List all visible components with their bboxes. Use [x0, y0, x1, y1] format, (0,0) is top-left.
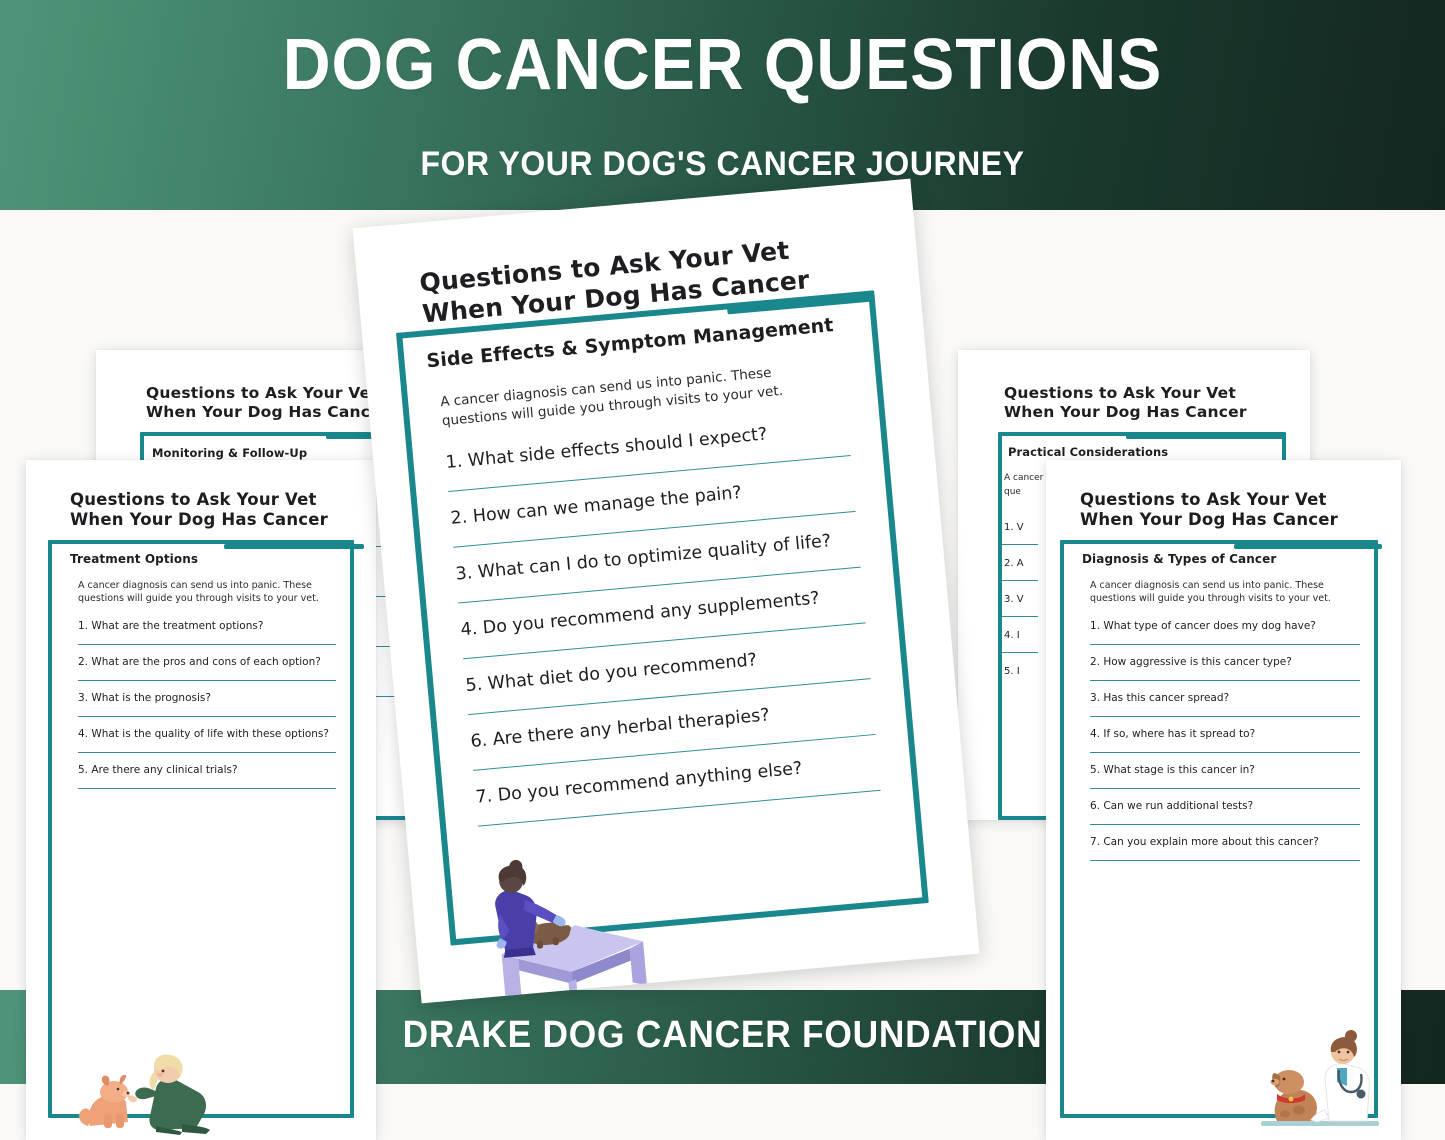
- question-item: 2. How aggressive is this cancer type?: [1090, 656, 1292, 668]
- question-item: 5. What stage is this cancer in?: [1090, 764, 1255, 776]
- answer-line: [78, 644, 336, 645]
- person-with-dog-on-exam-table-illustration: [465, 844, 668, 1003]
- worksheet-title: Questions to Ask Your Vet When Your Dog …: [70, 490, 360, 530]
- answer-line: [1090, 716, 1360, 717]
- answer-line: [1002, 652, 1038, 653]
- answer-line: [1090, 824, 1360, 825]
- answer-line: [1090, 860, 1360, 861]
- question-item: 4. I: [1004, 630, 1020, 641]
- document-mockup-stage: Questions to Ask Your Vet When Your Dog …: [0, 210, 1445, 990]
- worksheet-intro: A cancer diagnosis can send us into pani…: [1090, 579, 1352, 606]
- answer-line: [1002, 616, 1038, 617]
- page-title: DOG CANCER QUESTIONS: [58, 24, 1387, 106]
- vet-with-stethoscope-and-spotted-dog-illustration: [1255, 1024, 1385, 1132]
- question-item: 2. A: [1004, 558, 1024, 569]
- header-banner: DOG CANCER QUESTIONS FOR YOUR DOG'S CANC…: [0, 0, 1445, 210]
- worksheet-treatment-options[interactable]: Questions to Ask Your Vet When Your Dog …: [26, 460, 376, 1140]
- worksheet-diagnosis-types[interactable]: Questions to Ask Your Vet When Your Dog …: [1046, 460, 1401, 1140]
- answer-line: [78, 788, 336, 789]
- question-item: 4. If so, where has it spread to?: [1090, 728, 1255, 740]
- worksheet-intro: A cancer diagnosis can send us into pani…: [78, 579, 336, 606]
- answer-line: [78, 716, 336, 717]
- worksheet-title: Questions to Ask Your Vet When Your Dog …: [1080, 490, 1380, 530]
- question-item: 6. Can we run additional tests?: [1090, 800, 1253, 812]
- answer-line: [1090, 788, 1360, 789]
- answer-line: [78, 680, 336, 681]
- question-item: 4. What is the quality of life with thes…: [78, 728, 329, 740]
- answer-line: [1090, 752, 1360, 753]
- worksheet-side-effects-symptom-management[interactable]: Questions to Ask Your Vet When Your Dog …: [353, 179, 980, 1004]
- question-item: 2. What are the pros and cons of each op…: [78, 656, 321, 668]
- question-item: 1. What type of cancer does my dog have?: [1090, 620, 1316, 632]
- question-item: 5. Are there any clinical trials?: [78, 764, 238, 776]
- vet-kneeling-with-dog-illustration: [64, 1026, 244, 1136]
- section-heading: Treatment Options: [70, 552, 198, 566]
- question-item: 1. What are the treatment options?: [78, 620, 263, 632]
- answer-line: [1002, 580, 1038, 581]
- worksheet-title: Questions to Ask Your Vet When Your Dog …: [1004, 384, 1284, 422]
- answer-line: [78, 752, 336, 753]
- page-subtitle: FOR YOUR DOG'S CANCER JOURNEY: [43, 145, 1401, 184]
- section-heading: Diagnosis & Types of Cancer: [1082, 552, 1276, 566]
- question-item: 1. V: [1004, 522, 1024, 533]
- question-item: 3. Has this cancer spread?: [1090, 692, 1229, 704]
- answer-line: [1090, 644, 1360, 645]
- question-item: 5. I: [1004, 666, 1020, 677]
- answer-line: [1002, 544, 1038, 545]
- question-item: 3. What is the prognosis?: [78, 692, 211, 704]
- answer-line: [1090, 680, 1360, 681]
- question-item: 3. V: [1004, 594, 1024, 605]
- section-heading: Practical Considerations: [1008, 445, 1168, 459]
- question-item: 7. Can you explain more about this cance…: [1090, 836, 1319, 848]
- section-heading: Monitoring & Follow-Up: [152, 446, 307, 460]
